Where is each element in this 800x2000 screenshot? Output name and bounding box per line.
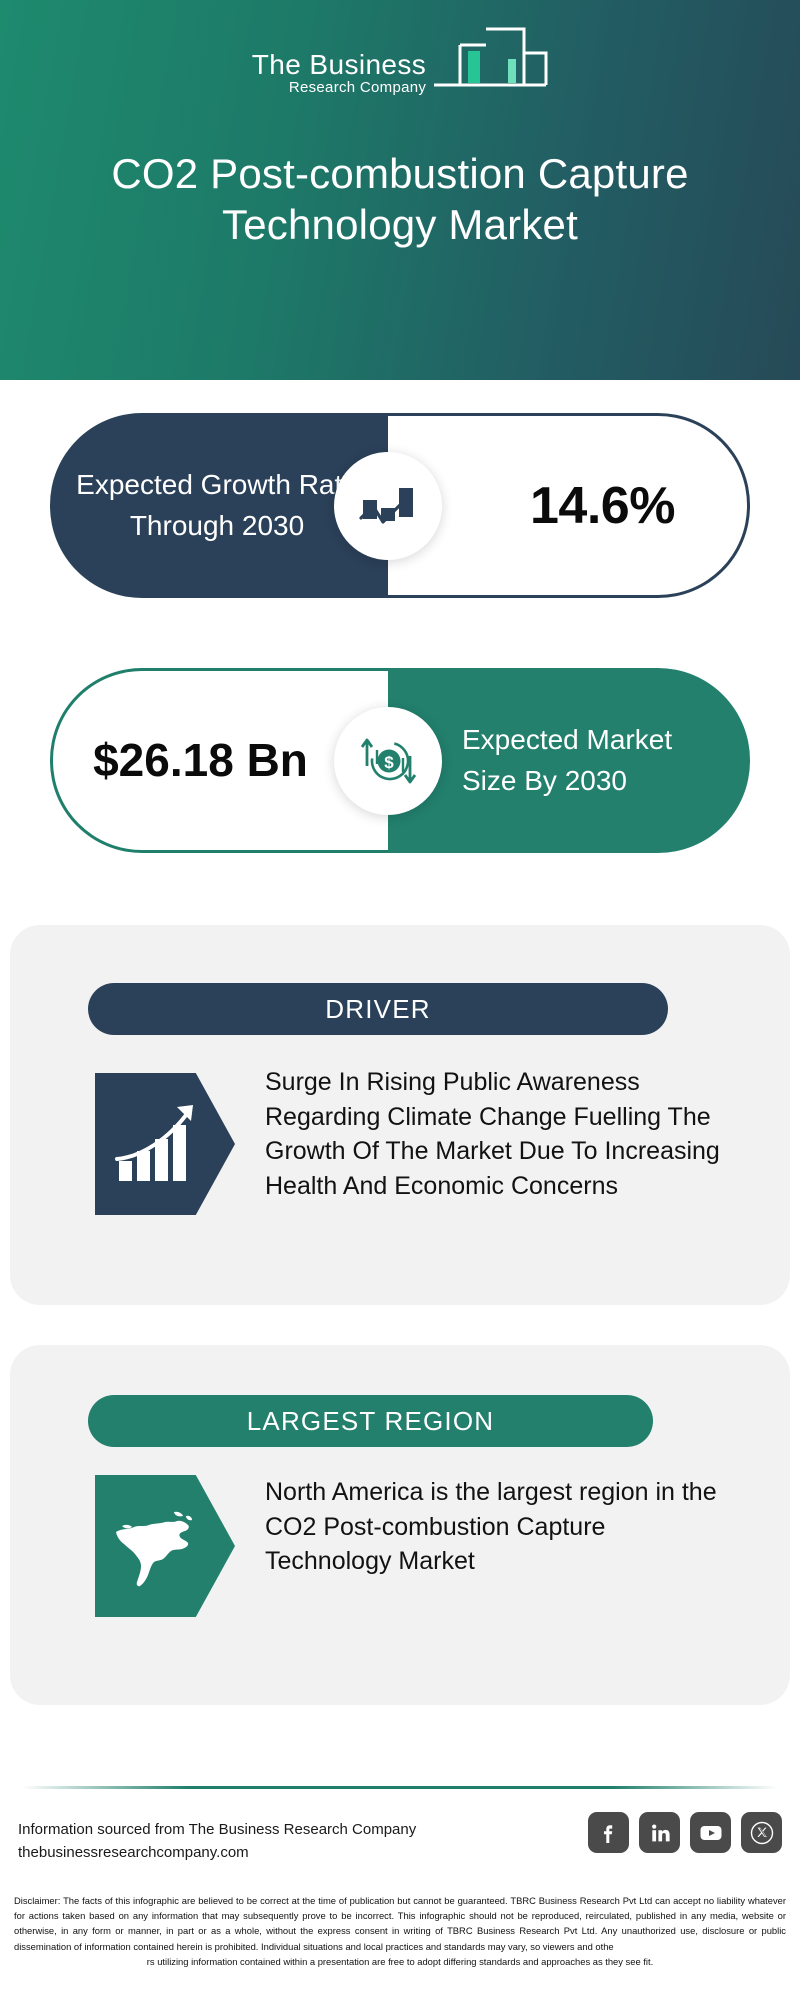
- largest-region-body-text: North America is the largest region in t…: [265, 1475, 730, 1579]
- svg-text:$: $: [384, 753, 394, 772]
- stat-card-market-size: $26.18 Bn Expected Market Size By 2030 $: [50, 668, 750, 853]
- dollar-circulation-icon: $: [334, 707, 442, 815]
- source-line-1: Information sourced from The Business Re…: [18, 1818, 468, 1841]
- market-size-label: Expected Market Size By 2030: [388, 720, 750, 801]
- disclaimer-body: Disclaimer: The facts of this infographi…: [14, 1895, 786, 1952]
- disclaimer-text: Disclaimer: The facts of this infographi…: [14, 1893, 786, 1969]
- driver-body-text: Surge In Rising Public Awareness Regardi…: [265, 1065, 730, 1203]
- market-size-label-block: Expected Market Size By 2030: [388, 668, 750, 853]
- market-size-value: $26.18 Bn: [81, 732, 360, 788]
- growth-rate-value: 14.6%: [460, 476, 675, 536]
- x-twitter-icon[interactable]: [741, 1812, 782, 1853]
- source-attribution: Information sourced from The Business Re…: [18, 1818, 468, 1865]
- stat-card-growth-rate: Expected Growth Rate Through 2030 14.6%: [50, 413, 750, 598]
- youtube-icon[interactable]: [690, 1812, 731, 1853]
- logo-primary-text: The Business: [252, 50, 426, 79]
- logo-text-block: The Business Research Company: [252, 50, 426, 102]
- facebook-icon[interactable]: [588, 1812, 629, 1853]
- growth-bar-chart-arrow-icon: [334, 452, 442, 560]
- source-website[interactable]: thebusinessresearchcompany.com: [18, 1841, 468, 1864]
- driver-heading: DRIVER: [88, 983, 668, 1035]
- logo-secondary-text: Research Company: [289, 79, 426, 98]
- disclaimer-last-line: rs utilizing information contained withi…: [14, 1954, 786, 1969]
- ascending-bar-chart-icon: [95, 1073, 235, 1215]
- page-title: CO2 Post-combustion Capture Technology M…: [40, 148, 760, 250]
- largest-region-panel: LARGEST REGION North America is the larg…: [10, 1345, 790, 1705]
- linkedin-icon[interactable]: [639, 1812, 680, 1853]
- footer-divider: [22, 1786, 778, 1789]
- social-links: [588, 1812, 782, 1853]
- driver-panel: DRIVER Surge In Rising Public Awareness …: [10, 925, 790, 1305]
- header-banner: The Business Research Company CO2 Post-c…: [0, 0, 800, 380]
- company-logo: The Business Research Company: [252, 24, 548, 102]
- largest-region-heading: LARGEST REGION: [88, 1395, 653, 1447]
- infographic-page: The Business Research Company CO2 Post-c…: [0, 0, 800, 2000]
- growth-rate-value-block: 14.6%: [388, 413, 750, 598]
- north-america-map-icon: [95, 1475, 235, 1617]
- logo-bar-chart-icon: [428, 23, 548, 100]
